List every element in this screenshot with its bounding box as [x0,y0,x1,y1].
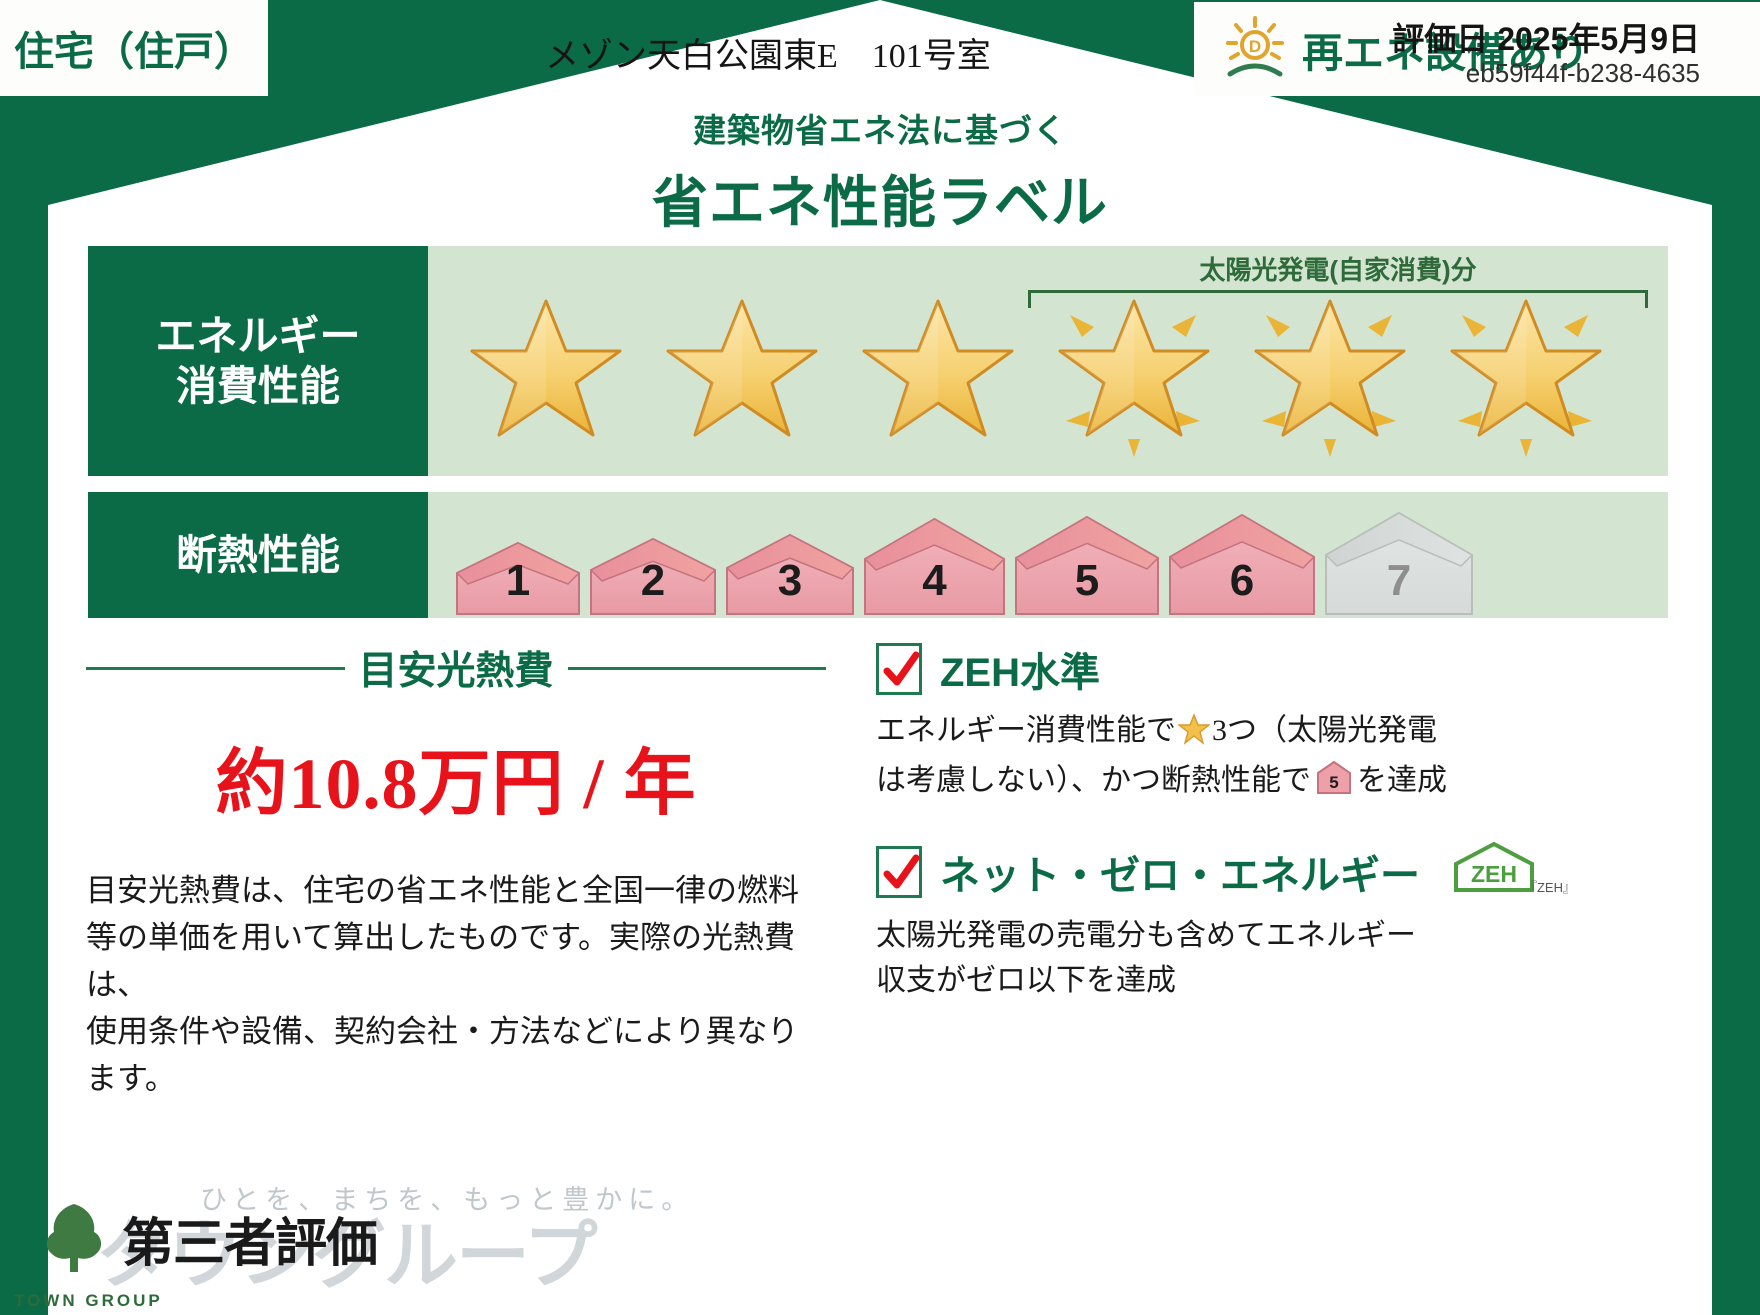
third-party-evaluation-mark: 第三者評価 [36,1198,377,1279]
zeh-desc-text-4: を達成 [1357,764,1447,797]
estimated-utility-cost-block: 目安光熱費 約10.8万円 / 年 目安光熱費は、住宅の省エネ性能と全国一律の燃… [86,640,826,1103]
dwelling-type-label: 住宅（住戸） [14,19,254,77]
svg-text:5: 5 [1329,773,1338,792]
house-icon: 1 [454,540,582,618]
town-group-label: TOWN GROUP [14,1291,163,1311]
house-icon: 2 [588,536,718,618]
insulation-grade-number: 2 [588,556,718,606]
estimated-cost-description: 目安光熱費は、住宅の省エネ性能と全国一律の燃料等の単価を用いて算出したものです。… [86,867,826,1103]
zeh-logo-icon: ZEH 『ZEH』 [1450,840,1568,903]
cost-description-line: 目安光熱費は、住宅の省エネ性能と全国一律の燃料 [86,867,826,914]
zeh-desc-text-2: 3つ（太陽光発電 [1212,714,1437,747]
zeh-standard-title: ZEH水準 [940,640,1100,698]
insulation-grade-badge: 5 [1315,759,1353,810]
zeh-netzero-text-1: 太陽光発電の売電分も含めてエネルギー [876,919,1416,952]
cost-description-line: 使用条件や設備、契約会社・方法などにより異なります。 [86,1008,826,1102]
insulation-grade-number: 4 [862,556,1007,606]
zeh-criteria-block: ZEH水準 エネルギー消費性能で3つ（太陽光発電 は考慮しない）、かつ断熱性能で… [876,640,1666,1021]
estimated-cost-value: 約10.8万円 / 年 [86,724,826,829]
evaluation-date: 評価日 2025年5月9日 [1392,14,1700,60]
energy-star-rating [448,268,1648,464]
evaluation-date-label: 評価日 [1392,21,1488,57]
zeh-desc-text-1: エネルギー消費性能で [876,714,1176,747]
third-party-evaluation-label: 第三者評価 [122,1201,377,1276]
svg-text:ZEH: ZEH [1471,861,1517,887]
cost-heading-label: 目安光熱費 [359,640,554,696]
check-icon [876,846,922,898]
zeh-item-net-zero: ネット・ゼロ・エネルギー ZEH 『ZEH』 太陽光発電の売電分も含めてエネルギ… [876,840,1666,1003]
house-icon: 7 [1323,510,1475,618]
label-subtitle: 建築物省エネ法に基づく [0,104,1760,152]
insulation-grade-number: 6 [1167,556,1317,606]
insulation-performance-body: 1234567 [428,492,1668,618]
estimated-utility-cost-heading: 目安光熱費 [86,640,826,696]
evaluation-id: eb59f44f-b238-4635 [1466,58,1700,89]
insulation-performance-label: 断熱性能 [88,492,428,618]
energy-performance-body: 太陽光発電(自家消費)分 [428,246,1668,476]
label-title-block: 建築物省エネ法に基づく 省エネ性能ラベル [0,104,1760,239]
zeh-netzero-text-2: 収支がゼロ以下を達成 [876,964,1176,997]
house-icon: 6 [1167,512,1317,618]
zeh-netzero-description: 太陽光発電の売電分も含めてエネルギー 収支がゼロ以下を達成 [876,913,1666,1003]
insulation-grade-number: 1 [454,556,582,606]
tree-icon [36,1198,112,1279]
zeh-netzero-title: ネット・ゼロ・エネルギー [940,843,1420,901]
zeh-standard-head: ZEH水準 [876,640,1666,698]
check-icon [876,643,922,695]
svg-text:D: D [1249,37,1261,56]
star-icon [448,271,644,461]
insulation-grade-scale: 1234567 [454,506,1614,618]
house-icon: 4 [862,516,1007,618]
page-title: 省エネ性能ラベル [0,158,1760,239]
divider-left [86,667,345,670]
star-icon [1036,271,1232,461]
energy-performance-row: エネルギー 消費性能 太陽光発電(自家消費)分 [88,246,1668,476]
insulation-grade-number: 5 [1013,556,1161,606]
evaluation-date-value: 2025年5月9日 [1497,21,1700,57]
zeh-standard-description: エネルギー消費性能で3つ（太陽光発電 は考慮しない）、かつ断熱性能で5を達成 [876,708,1666,810]
star-icon [1178,713,1210,758]
solar-sun-icon: D [1222,14,1288,85]
svg-text:『ZEH』: 『ZEH』 [1524,880,1568,895]
energy-performance-label: エネルギー 消費性能 [88,246,428,476]
town-group-logo: TOWN GROUP [14,1291,163,1311]
property-name: メゾン天白公園東E 101号室 [545,28,991,77]
cost-description-line: 等の単価を用いて算出したものです。実際の光熱費は、 [86,914,826,1008]
house-icon: 3 [724,532,856,618]
star-icon [644,271,840,461]
dwelling-type-badge: 住宅（住戸） [0,0,268,96]
star-icon [840,271,1036,461]
divider-right [568,667,827,670]
house-icon: 5 [1013,514,1161,618]
star-icon [1232,271,1428,461]
insulation-performance-row: 断熱性能 1234567 [88,492,1668,618]
insulation-grade-number: 3 [724,556,856,606]
zeh-desc-text-3: は考慮しない）、かつ断熱性能で [876,764,1311,797]
insulation-grade-number: 7 [1323,556,1475,606]
zeh-netzero-head: ネット・ゼロ・エネルギー ZEH 『ZEH』 [876,840,1666,903]
star-icon [1428,271,1624,461]
zeh-item-standard: ZEH水準 エネルギー消費性能で3つ（太陽光発電 は考慮しない）、かつ断熱性能で… [876,640,1666,810]
